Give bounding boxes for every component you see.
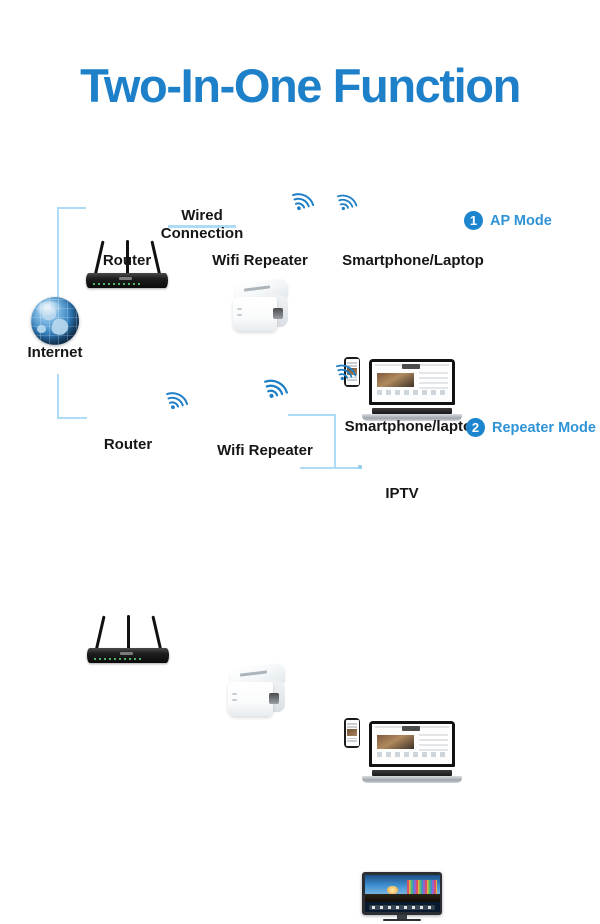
wifi-repeater-icon-ap bbox=[231, 281, 291, 333]
connector-internet-to-bottom-router-horizontal bbox=[57, 417, 87, 419]
router-icon-repeater bbox=[87, 615, 169, 663]
laptop-icon-repeater bbox=[362, 721, 462, 783]
smartphone-icon-repeater bbox=[344, 718, 360, 748]
laptop-icon-ap bbox=[362, 359, 462, 421]
repeater-mode-badge-label: Repeater Mode bbox=[492, 420, 596, 436]
connector-internet-to-top-router-horizontal bbox=[57, 207, 86, 209]
connector-repeater-to-clients-horizontal bbox=[288, 414, 336, 416]
repeater-mode-badge[interactable]: 2 Repeater Mode bbox=[466, 418, 596, 437]
wifi-signal-icon-router-repeater bbox=[165, 385, 191, 411]
router-label-repeater: Router bbox=[78, 437, 178, 454]
wifi-signal-icon-client-ap bbox=[336, 188, 360, 212]
iptv-television-icon bbox=[362, 872, 442, 924]
page-title: Two-In-One Function bbox=[0, 58, 600, 114]
ap-mode-badge[interactable]: 1 AP Mode bbox=[464, 211, 552, 230]
wifi-signal-icon-repeater-repeater bbox=[263, 372, 291, 400]
router-label-ap: Router bbox=[77, 253, 177, 270]
connector-internet-to-top-router-vertical bbox=[57, 207, 59, 306]
connector-internet-to-bottom-router-vertical bbox=[57, 374, 59, 419]
globe-icon bbox=[31, 297, 79, 345]
ap-mode-badge-number: 1 bbox=[464, 211, 483, 230]
iptv-label: IPTV bbox=[362, 486, 442, 503]
ap-mode-badge-label: AP Mode bbox=[490, 213, 552, 229]
repeater-label-repeater: Wifi Repeater bbox=[190, 443, 340, 460]
connector-endpoint-dot-iptv bbox=[358, 465, 362, 469]
wifi-signal-icon-client-repeater bbox=[335, 358, 359, 382]
repeater-mode-badge-number: 2 bbox=[466, 418, 485, 437]
wired-connection-label-line2: Connection bbox=[155, 226, 249, 243]
wired-connection-label-line1: Wired bbox=[160, 208, 244, 225]
repeater-label-ap: Wifi Repeater bbox=[185, 253, 335, 270]
client-label-ap: Smartphone/Laptop bbox=[330, 253, 496, 270]
wifi-repeater-icon-repeater bbox=[226, 666, 288, 718]
connector-iptv-left-stub bbox=[300, 467, 334, 469]
internet-label: Internet bbox=[5, 345, 105, 362]
infographic-canvas: Two-In-One Function Internet Router Wire… bbox=[0, 0, 600, 600]
wifi-signal-icon-repeater-ap bbox=[291, 186, 317, 212]
